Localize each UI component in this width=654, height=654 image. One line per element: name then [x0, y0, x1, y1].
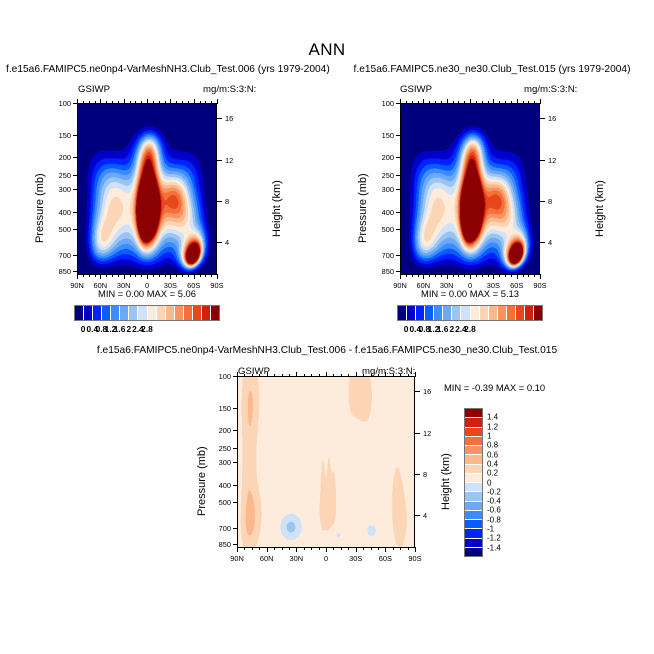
right-y-tick-label: 500	[366, 225, 394, 234]
colorbar-swatch	[465, 520, 482, 529]
colorbar-tick-label: 0	[81, 324, 86, 334]
colorbar-swatch	[465, 437, 482, 446]
diff-colorbar[interactable]	[464, 408, 483, 557]
diff-x-tick	[237, 547, 238, 552]
left-y-tick	[73, 255, 78, 256]
colorbar-tick-label: 0.2	[487, 469, 498, 478]
diff-x-minor-tick	[371, 547, 372, 550]
diff-x-minor-tick-top	[341, 374, 342, 377]
diff-y-tick	[233, 448, 238, 449]
left-x-minor-tick-top	[95, 101, 96, 104]
right-x-tick-top	[470, 99, 471, 104]
colorbar-swatch	[461, 306, 470, 320]
left-y2-tick	[216, 118, 222, 119]
colorbar-swatch	[416, 306, 425, 320]
colorbar-swatch	[465, 483, 482, 492]
diff-x-minor-tick-top	[252, 374, 253, 377]
diff-y-tick	[233, 544, 238, 545]
left-x-minor-tick-top	[130, 101, 131, 104]
diff-y-tick-label: 400	[203, 481, 231, 490]
left-x-minor-tick	[211, 274, 212, 277]
colorbar-swatch	[129, 306, 138, 320]
diff-y-tick-label: 150	[203, 404, 231, 413]
diff-y2-tick	[414, 433, 420, 434]
right-y-tick	[396, 255, 401, 256]
diff-y-tick-label: 100	[203, 372, 231, 381]
colorbar-tick-label: 0	[404, 324, 409, 334]
left-x-minor-tick	[83, 274, 84, 277]
colorbar-tick-label: 0.4	[487, 459, 498, 468]
right-y-tick	[396, 157, 401, 158]
diff-x-minor-tick-top	[311, 374, 312, 377]
diff-x-minor-tick	[274, 547, 275, 550]
right-x-tick-top	[540, 99, 541, 104]
diff-y2-tick-label: 4	[423, 511, 443, 520]
diff-x-minor-tick	[363, 547, 364, 550]
left-x-tick	[100, 274, 101, 279]
diff-x-tick-label: 90S	[401, 554, 429, 563]
right-y-tick-label: 100	[366, 99, 394, 108]
right-y-tick	[396, 175, 401, 176]
diff-y2-tick	[414, 391, 420, 392]
diff-x-minor-tick	[304, 547, 305, 550]
left-x-minor-tick	[200, 274, 201, 277]
right-x-minor-tick	[505, 274, 506, 277]
right-y2-tick	[539, 160, 545, 161]
diff-x-minor-tick	[341, 547, 342, 550]
left-x-tick-top	[170, 99, 171, 104]
left-x-minor-tick-top	[153, 101, 154, 104]
left-x-tick-label: 90S	[203, 281, 231, 290]
right-x-tick	[447, 274, 448, 279]
right-x-minor-tick	[429, 274, 430, 277]
colorbar-tick-label: -0.6	[487, 506, 501, 515]
diff-x-minor-tick-top	[363, 374, 364, 377]
diff-y2-tick-label: 8	[423, 470, 443, 479]
colorbar-swatch	[534, 306, 542, 320]
colorbar-swatch	[175, 306, 184, 320]
diff-x-minor-tick	[311, 547, 312, 550]
right-x-tick	[400, 274, 401, 279]
right-x-tick	[540, 274, 541, 279]
right-x-minor-tick-top	[488, 101, 489, 104]
left-y-tick-label: 150	[43, 131, 71, 140]
right-y-tick-label: 150	[366, 131, 394, 140]
left-x-minor-tick-top	[211, 101, 212, 104]
diff-x-minor-tick-top	[289, 374, 290, 377]
colorbar-tick-label: 2.8	[141, 324, 153, 334]
colorbar-swatch	[75, 306, 84, 320]
right-x-minor-tick-top	[534, 101, 535, 104]
right-colorbar[interactable]	[397, 305, 543, 321]
colorbar-tick-label: -0.8	[487, 515, 501, 524]
right-x-minor-tick-top	[499, 101, 500, 104]
diff-x-tick	[267, 547, 268, 552]
diff-y-tick-label: 500	[203, 498, 231, 507]
left-x-minor-tick-top	[182, 101, 183, 104]
colorbar-swatch	[407, 306, 416, 320]
colorbar-swatch	[465, 511, 482, 520]
left-x-tick	[147, 274, 148, 279]
colorbar-tick-label: 0.6	[487, 450, 498, 459]
diff-x-minor-tick-top	[393, 374, 394, 377]
right-x-tick	[517, 274, 518, 279]
right-plot-canvas	[401, 104, 539, 274]
colorbar-tick-label: 2.8	[464, 324, 476, 334]
left-y-tick	[73, 157, 78, 158]
left-x-tick-top	[194, 99, 195, 104]
colorbar-swatch	[465, 539, 482, 548]
right-x-minor-tick-top	[505, 101, 506, 104]
left-x-minor-tick-top	[83, 101, 84, 104]
diff-x-minor-tick-top	[244, 374, 245, 377]
right-x-minor-tick	[406, 274, 407, 277]
diff-x-minor-tick	[378, 547, 379, 550]
colorbar-tick-label: 1.6	[437, 324, 449, 334]
diff-x-minor-tick	[282, 547, 283, 550]
diff-x-tick-label: 90N	[223, 554, 251, 563]
left-y-tick-label: 500	[43, 225, 71, 234]
colorbar-swatch	[184, 306, 193, 320]
diff-y-tick-label: 300	[203, 458, 231, 467]
left-x-minor-tick-top	[118, 101, 119, 104]
right-x-minor-tick	[418, 274, 419, 277]
right-x-minor-tick	[458, 274, 459, 277]
colorbar-tick-label: 1.4	[487, 413, 498, 422]
colorbar-swatch	[148, 306, 157, 320]
left-x-minor-tick-top	[112, 101, 113, 104]
left-y-tick-label: 300	[43, 185, 71, 194]
left-x-minor-tick-top	[106, 101, 107, 104]
left-contour-plot[interactable]	[77, 103, 217, 275]
diff-panel-title: f.e15a6.FAMIPC5.ne0np4-VarMeshNH3.Club_T…	[77, 345, 577, 356]
right-y-tick-label: 850	[366, 267, 394, 276]
diff-y-tick-label: 850	[203, 540, 231, 549]
diff-x-tick-label: 30S	[342, 554, 370, 563]
right-x-minor-tick-top	[435, 101, 436, 104]
right-x-minor-tick-top	[418, 101, 419, 104]
left-x-minor-tick-top	[135, 101, 136, 104]
colorbar-swatch	[507, 306, 516, 320]
left-x-minor-tick	[205, 274, 206, 277]
right-x-tick	[470, 274, 471, 279]
left-x-minor-tick	[135, 274, 136, 277]
right-y2-tick	[539, 201, 545, 202]
right-x-minor-tick-top	[429, 101, 430, 104]
right-y-tick-label: 700	[366, 251, 394, 260]
colorbar-tick-label: 0	[487, 478, 491, 487]
right-x-minor-tick-top	[406, 101, 407, 104]
diff-y2-tick-label: 12	[423, 429, 443, 438]
left-x-minor-tick-top	[200, 101, 201, 104]
colorbar-tick-label: 1.2	[487, 422, 498, 431]
left-field-name-label: GSIWP	[78, 84, 110, 95]
right-y2-tick-label: 16	[548, 114, 568, 123]
colorbar-tick-label: -1	[487, 525, 494, 534]
colorbar-tick-label: 2	[449, 324, 454, 334]
colorbar-swatch	[465, 409, 482, 418]
left-y-tick-label: 850	[43, 267, 71, 276]
diff-x-tick-top	[385, 372, 386, 377]
right-field-name-label: GSIWP	[400, 84, 432, 95]
colorbar-tick-label: 0.8	[487, 441, 498, 450]
diff-contour-plot[interactable]	[237, 376, 415, 548]
left-x-tick	[124, 274, 125, 279]
diff-x-minor-tick-top	[333, 374, 334, 377]
right-y-tick-label: 250	[366, 171, 394, 180]
diff-y-tick	[233, 462, 238, 463]
colorbar-swatch	[202, 306, 211, 320]
diff-x-minor-tick-top	[274, 374, 275, 377]
right-y2-tick	[539, 118, 545, 119]
right-x-minor-tick	[482, 274, 483, 277]
colorbar-swatch	[425, 306, 434, 320]
left-x-tick-top	[77, 99, 78, 104]
diff-x-tick-label: 60S	[371, 554, 399, 563]
left-colorbar-labels: 00.40.81.21.622.42.8	[74, 324, 220, 336]
right-x-minor-tick-top	[464, 101, 465, 104]
diff-x-minor-tick-top	[319, 374, 320, 377]
right-x-minor-tick-top	[476, 101, 477, 104]
diff-x-tick	[415, 547, 416, 552]
diff-x-tick-label: 60N	[253, 554, 281, 563]
right-x-tick	[493, 274, 494, 279]
diff-x-tick-label: 0	[312, 554, 340, 563]
left-x-tick	[170, 274, 171, 279]
left-x-minor-tick-top	[141, 101, 142, 104]
left-x-tick	[77, 274, 78, 279]
left-y-tick	[73, 189, 78, 190]
right-x-minor-tick	[499, 274, 500, 277]
left-y-tick-label: 250	[43, 171, 71, 180]
diff-x-minor-tick-top	[400, 374, 401, 377]
right-y-tick-label: 200	[366, 153, 394, 162]
colorbar-swatch	[480, 306, 489, 320]
diff-x-tick	[296, 547, 297, 552]
right-y-tick	[396, 212, 401, 213]
right-x-tick-label: 90S	[526, 281, 554, 290]
colorbar-swatch	[465, 446, 482, 455]
colorbar-swatch	[465, 529, 482, 538]
right-x-tick-top	[493, 99, 494, 104]
right-x-tick-top	[517, 99, 518, 104]
diff-y2-tick	[414, 474, 420, 475]
left-x-minor-tick	[118, 274, 119, 277]
left-y-tick-label: 200	[43, 153, 71, 162]
left-units-label: mg/m:S:3:N:	[203, 84, 256, 95]
diff-x-minor-tick	[333, 547, 334, 550]
diff-x-minor-tick-top	[282, 374, 283, 377]
diff-x-minor-tick-top	[348, 374, 349, 377]
diff-y-tick-label: 700	[203, 524, 231, 533]
diff-x-tick-top	[267, 372, 268, 377]
left-x-minor-tick	[165, 274, 166, 277]
right-y2-tick	[539, 242, 545, 243]
colorbar-swatch	[120, 306, 129, 320]
right-x-minor-tick-top	[528, 101, 529, 104]
diff-x-minor-tick-top	[378, 374, 379, 377]
right-x-minor-tick-top	[511, 101, 512, 104]
right-x-minor-tick	[441, 274, 442, 277]
left-y2-tick-label: 12	[225, 156, 245, 165]
diff-x-minor-tick-top	[408, 374, 409, 377]
colorbar-swatch	[111, 306, 120, 320]
diff-x-minor-tick	[393, 547, 394, 550]
right-x-tick-top	[423, 99, 424, 104]
left-y2-tick-label: 8	[225, 197, 245, 206]
colorbar-swatch	[166, 306, 175, 320]
colorbar-swatch	[452, 306, 461, 320]
left-y2-tick	[216, 160, 222, 161]
colorbar-swatch	[465, 418, 482, 427]
left-x-tick-top	[124, 99, 125, 104]
left-y-tick	[73, 175, 78, 176]
diff-x-tick-top	[296, 372, 297, 377]
right-x-minor-tick-top	[458, 101, 459, 104]
diff-y-tick	[233, 430, 238, 431]
right-colorbar-labels: 00.40.81.21.622.42.8	[397, 324, 543, 336]
left-x-minor-tick-top	[188, 101, 189, 104]
left-x-minor-tick	[106, 274, 107, 277]
colorbar-swatch	[138, 306, 147, 320]
left-x-minor-tick	[176, 274, 177, 277]
left-x-tick	[217, 274, 218, 279]
right-x-minor-tick	[523, 274, 524, 277]
left-x-minor-tick-top	[159, 101, 160, 104]
right-x-minor-tick	[534, 274, 535, 277]
right-y-tick-label: 400	[366, 208, 394, 217]
colorbar-swatch	[465, 428, 482, 437]
colorbar-swatch	[525, 306, 534, 320]
left-x-minor-tick-top	[89, 101, 90, 104]
colorbar-tick-label: -0.4	[487, 497, 501, 506]
right-panel-title: f.e15a6.FAMIPC5.ne30_ne30.Club_Test.015 …	[337, 64, 647, 75]
colorbar-swatch	[465, 492, 482, 501]
diff-x-tick-top	[237, 372, 238, 377]
right-y-tick	[396, 271, 401, 272]
right-x-minor-tick-top	[482, 101, 483, 104]
left-colorbar[interactable]	[74, 305, 220, 321]
right-y2-axis-title: Height (km)	[594, 180, 606, 237]
diff-x-tick-top	[326, 372, 327, 377]
left-x-minor-tick	[153, 274, 154, 277]
right-x-minor-tick-top	[412, 101, 413, 104]
right-x-minor-tick	[511, 274, 512, 277]
left-x-minor-tick	[112, 274, 113, 277]
diff-y-tick	[233, 502, 238, 503]
diff-x-tick-top	[356, 372, 357, 377]
diff-x-minor-tick	[400, 547, 401, 550]
left-x-minor-tick	[159, 274, 160, 277]
right-y-tick	[396, 229, 401, 230]
diff-x-tick	[356, 547, 357, 552]
colorbar-swatch	[465, 455, 482, 464]
right-x-minor-tick	[453, 274, 454, 277]
colorbar-swatch	[157, 306, 166, 320]
left-x-minor-tick	[188, 274, 189, 277]
colorbar-swatch	[434, 306, 443, 320]
right-x-tick-top	[447, 99, 448, 104]
left-y2-axis-title: Height (km)	[271, 180, 283, 237]
left-x-tick-top	[147, 99, 148, 104]
left-y-tick-label: 400	[43, 208, 71, 217]
right-x-minor-tick	[488, 274, 489, 277]
colorbar-swatch	[102, 306, 111, 320]
colorbar-tick-label: 1	[487, 431, 491, 440]
colorbar-tick-label: -1.2	[487, 534, 501, 543]
colorbar-swatch	[498, 306, 507, 320]
diff-y2-tick-label: 16	[423, 387, 443, 396]
right-x-minor-tick	[464, 274, 465, 277]
right-y-tick-label: 300	[366, 185, 394, 194]
left-panel-title: f.e15a6.FAMIPC5.ne0np4-VarMeshNH3.Club_T…	[6, 64, 326, 75]
right-y-tick	[396, 189, 401, 190]
right-contour-plot[interactable]	[400, 103, 540, 275]
right-x-minor-tick	[412, 274, 413, 277]
diff-minmax-label: MIN = -0.39 MAX = 0.10	[444, 382, 545, 393]
diff-x-minor-tick	[408, 547, 409, 550]
right-x-minor-tick	[435, 274, 436, 277]
right-x-minor-tick-top	[523, 101, 524, 104]
colorbar-swatch	[465, 465, 482, 474]
right-y-tick	[396, 135, 401, 136]
diff-x-minor-tick	[244, 547, 245, 550]
left-x-tick-top	[217, 99, 218, 104]
colorbar-swatch	[84, 306, 93, 320]
right-y2-tick-label: 12	[548, 156, 568, 165]
colorbar-tick-label: -1.4	[487, 543, 501, 552]
right-x-minor-tick-top	[441, 101, 442, 104]
right-y2-tick-label: 8	[548, 197, 568, 206]
diff-y-tick	[233, 528, 238, 529]
left-y2-tick	[216, 242, 222, 243]
diff-colorbar-labels: 1.41.210.80.60.40.20-0.2-0.4-0.6-0.8-1-1…	[487, 408, 517, 557]
diff-x-minor-tick-top	[371, 374, 372, 377]
diff-y-tick	[233, 485, 238, 486]
diff-y2-tick	[414, 515, 420, 516]
left-x-minor-tick	[141, 274, 142, 277]
right-x-minor-tick	[528, 274, 529, 277]
left-x-minor-tick	[182, 274, 183, 277]
left-x-tick	[194, 274, 195, 279]
colorbar-tick-label: -0.2	[487, 487, 501, 496]
diff-x-tick	[326, 547, 327, 552]
left-y-tick	[73, 135, 78, 136]
diff-plot-canvas	[238, 377, 414, 547]
colorbar-swatch	[93, 306, 102, 320]
diff-y2-axis-title: Height (km)	[440, 453, 452, 510]
diff-x-minor-tick	[252, 547, 253, 550]
right-x-tick-top	[400, 99, 401, 104]
left-x-minor-tick-top	[165, 101, 166, 104]
colorbar-swatch	[465, 502, 482, 511]
colorbar-swatch	[471, 306, 480, 320]
left-x-tick-top	[100, 99, 101, 104]
colorbar-swatch	[211, 306, 219, 320]
diff-x-minor-tick-top	[304, 374, 305, 377]
left-y-tick-label: 100	[43, 99, 71, 108]
diff-y-tick-label: 250	[203, 444, 231, 453]
left-y-tick	[73, 229, 78, 230]
right-units-label: mg/m:S:3:N:	[524, 84, 577, 95]
diff-y-tick-label: 200	[203, 426, 231, 435]
diff-y-tick	[233, 408, 238, 409]
right-y2-tick-label: 4	[548, 238, 568, 247]
left-plot-canvas	[78, 104, 216, 274]
diff-x-tick-label: 30N	[282, 554, 310, 563]
right-x-tick	[423, 274, 424, 279]
diff-x-minor-tick	[259, 547, 260, 550]
